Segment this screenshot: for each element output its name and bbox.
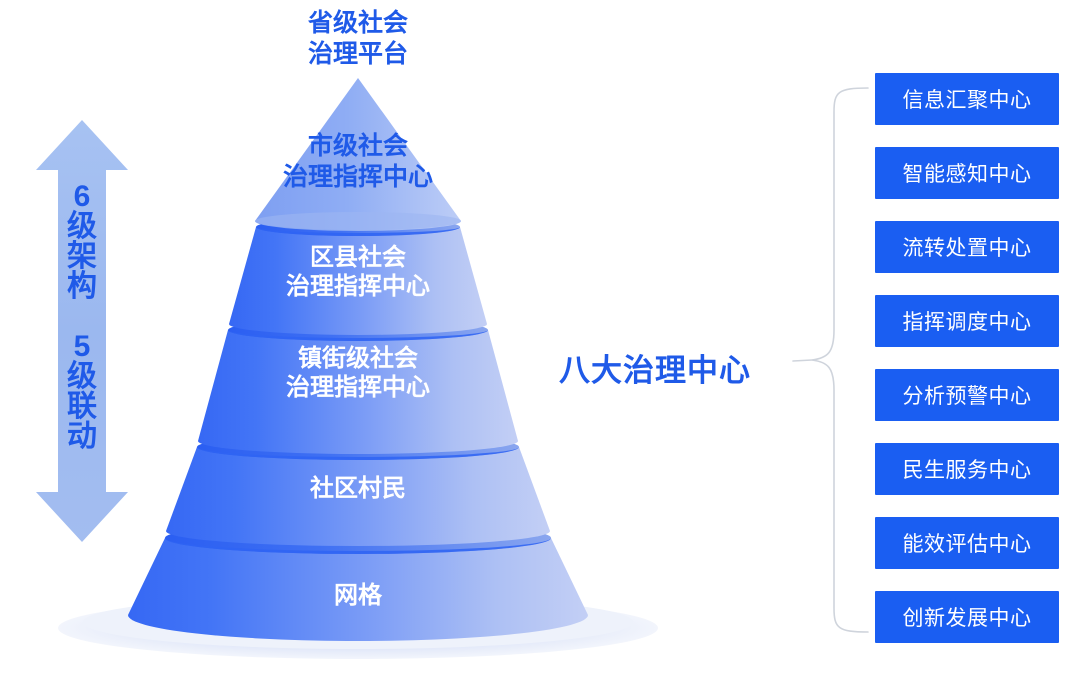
center-box-label: 流转处置中心 — [903, 232, 1032, 262]
eight-centers-heading: 八大治理中心 — [540, 345, 770, 390]
center-box[interactable]: 智能感知中心 — [875, 147, 1059, 199]
center-box[interactable]: 信息汇聚中心 — [875, 73, 1059, 125]
diagram-canvas: 6 级 架 构 5 级 联 动 省级社会 治理平台 市级社会 治理指挥中心 区县… — [0, 0, 1080, 690]
center-box-label: 民生服务中心 — [903, 454, 1032, 484]
center-box[interactable]: 分析预警中心 — [875, 369, 1059, 421]
center-box[interactable]: 创新发展中心 — [875, 591, 1059, 643]
center-box-label: 能效评估中心 — [903, 528, 1032, 558]
arrow-label-six-level: 6 级 架 构 — [55, 182, 109, 302]
center-box[interactable]: 流转处置中心 — [875, 221, 1059, 273]
pyramid-label-grid: 网格 — [258, 581, 458, 610]
pyramid-label-provincial: 省级社会 治理平台 — [238, 8, 478, 69]
center-box[interactable]: 指挥调度中心 — [875, 295, 1059, 347]
pyramid-label-township: 镇街级社会 治理指挥中心 — [218, 344, 498, 403]
center-box-label: 指挥调度中心 — [903, 306, 1032, 336]
pyramid-label-community: 社区村民 — [238, 474, 478, 503]
center-box[interactable]: 民生服务中心 — [875, 443, 1059, 495]
center-box-label: 创新发展中心 — [903, 602, 1032, 632]
center-box-label: 信息汇聚中心 — [903, 84, 1032, 114]
centers-brace — [793, 88, 868, 632]
centers-list: 信息汇聚中心 智能感知中心 流转处置中心 指挥调度中心 分析预警中心 民生服务中… — [875, 73, 1059, 643]
center-box-label: 分析预警中心 — [903, 380, 1032, 410]
arrow-label-five-level: 5 级 联 动 — [55, 332, 109, 452]
center-box-label: 智能感知中心 — [903, 158, 1032, 188]
pyramid-label-district: 区县社会 治理指挥中心 — [228, 243, 488, 302]
pyramid-label-municipal: 市级社会 治理指挥中心 — [218, 131, 498, 192]
center-box[interactable]: 能效评估中心 — [875, 517, 1059, 569]
